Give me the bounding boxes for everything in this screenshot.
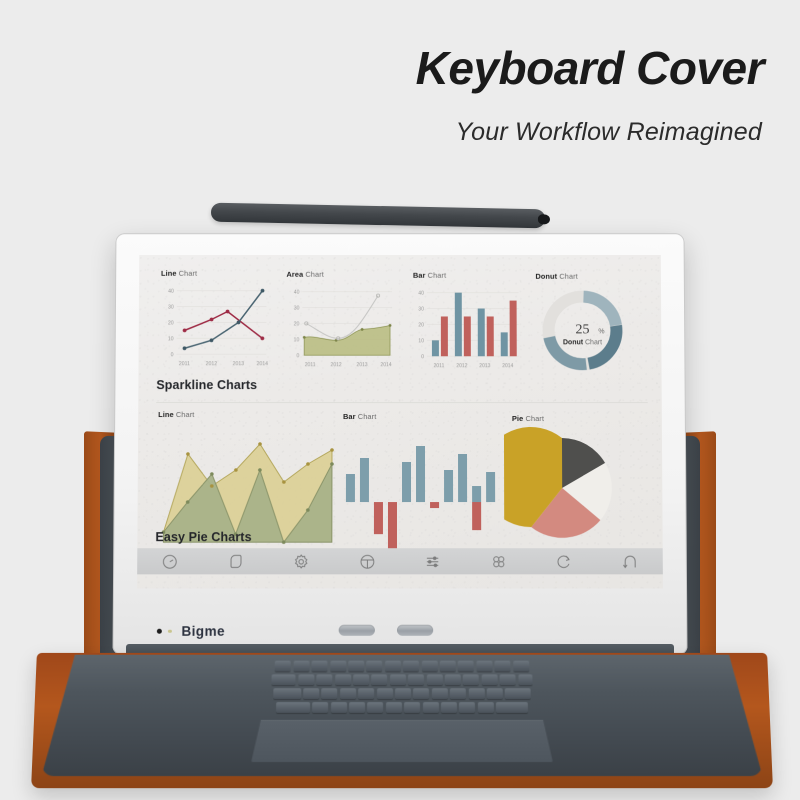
svg-text:2013: 2013	[357, 362, 368, 368]
keyboard-key[interactable]	[495, 661, 511, 672]
keyboard-key[interactable]	[312, 661, 328, 672]
svg-text:40: 40	[168, 289, 174, 295]
keyboard-key[interactable]	[441, 702, 457, 713]
keyboard-key[interactable]	[386, 702, 402, 713]
keyboard-key[interactable]	[335, 674, 351, 685]
key-row-4[interactable]	[44, 702, 760, 713]
keyboard-key[interactable]	[423, 702, 439, 713]
keyboard-key[interactable]	[445, 674, 461, 685]
keyboard-key[interactable]	[518, 674, 532, 685]
svg-text:2012: 2012	[331, 362, 342, 368]
keyboard-key[interactable]	[353, 674, 369, 685]
key-row-3[interactable]	[45, 688, 760, 699]
keyboard-key[interactable]	[496, 702, 528, 713]
keyboard-deck[interactable]	[41, 655, 762, 776]
svg-text:20: 20	[418, 322, 424, 328]
keyboard-key[interactable]	[421, 661, 437, 672]
svg-text:10: 10	[168, 336, 174, 342]
keyboard-key[interactable]	[450, 688, 466, 699]
chart-title-sparkline-pie: Pie Chart	[512, 414, 544, 423]
gear-icon[interactable]	[293, 553, 310, 570]
chart-line-1: 4030 2010 0 20112012 20132014	[154, 283, 272, 372]
keyboard-key[interactable]	[500, 674, 516, 685]
grid-dots-icon[interactable]	[490, 553, 507, 570]
svg-text:20: 20	[168, 320, 174, 326]
keyboard-key[interactable]	[273, 688, 301, 699]
keyboard-key[interactable]	[367, 661, 383, 672]
svg-text:2011: 2011	[434, 363, 445, 369]
donut-value: 25	[575, 322, 589, 337]
page-title: Keyboard Cover	[0, 44, 764, 92]
chart-title-area: Area Chart	[286, 270, 323, 279]
chart-area-1: 4030 2010 0 20112012 20132014	[280, 284, 398, 373]
key-rows[interactable]	[44, 661, 760, 712]
bezel-button-1[interactable]	[339, 625, 375, 636]
keyboard-key[interactable]	[272, 674, 296, 685]
keyboard-key[interactable]	[408, 674, 424, 685]
keyboard-key[interactable]	[390, 674, 406, 685]
svg-text:0: 0	[296, 353, 299, 359]
key-row-2[interactable]	[45, 674, 759, 685]
tablet-device: Line Chart 4030 2010 0 20112012 2013	[112, 233, 687, 655]
keyboard-key[interactable]	[377, 688, 393, 699]
chart-bar-1: 4030 2010 0 20112012 20132014	[407, 285, 525, 374]
keyboard-key[interactable]	[303, 688, 319, 699]
section-title-sparkline: Sparkline Charts	[156, 378, 257, 392]
chart-title-sparkline-line: Line Chart	[158, 410, 194, 419]
shape-square-icon[interactable]	[227, 553, 244, 570]
svg-text:0: 0	[171, 352, 174, 358]
eink-screen[interactable]: Line Chart 4030 2010 0 20112012 2013	[137, 255, 663, 588]
chart-sparkline-bar	[338, 426, 498, 550]
screen-toolbar[interactable]	[137, 548, 663, 574]
chart-title-donut: Donut Chart	[535, 272, 577, 281]
donut-label-light: Chart	[585, 339, 602, 346]
brand-name: Bigme	[181, 624, 225, 639]
key-row-1[interactable]	[46, 661, 758, 672]
keyboard-key[interactable]	[395, 688, 411, 699]
svg-text:2014: 2014	[380, 362, 391, 368]
keyboard-key[interactable]	[330, 661, 346, 672]
refresh-icon[interactable]	[556, 553, 573, 570]
keyboard-key[interactable]	[331, 702, 347, 713]
clock-icon[interactable]	[161, 553, 178, 570]
donut-label-strong: Donut	[563, 339, 584, 346]
keyboard-key[interactable]	[476, 661, 492, 672]
keyboard-key[interactable]	[275, 661, 291, 672]
svg-text:Donut Chart: Donut Chart	[563, 339, 602, 346]
keyboard-key[interactable]	[312, 702, 328, 713]
keyboard-key[interactable]	[348, 661, 364, 672]
keyboard-key[interactable]	[468, 688, 484, 699]
svg-text:30: 30	[418, 307, 424, 313]
stylus-pen[interactable]	[211, 203, 545, 229]
page-subtitle: Your Workflow Reimagined	[0, 118, 762, 147]
keyboard-key[interactable]	[349, 702, 365, 713]
keyboard-key[interactable]	[513, 661, 529, 672]
svg-text:2013: 2013	[479, 363, 490, 369]
chart-title-bar: Bar Chart	[413, 271, 446, 280]
svg-text:2013: 2013	[233, 361, 245, 367]
section-divider-1	[156, 402, 648, 403]
svg-text:0: 0	[421, 354, 424, 360]
svg-text:30: 30	[168, 305, 174, 311]
keyboard-key[interactable]	[403, 661, 419, 672]
keyboard-key[interactable]	[478, 702, 494, 713]
bezel-button-2[interactable]	[397, 625, 433, 636]
indicator-dot-black	[157, 629, 162, 634]
svg-text:10: 10	[418, 338, 424, 344]
chart-title-line: Line Chart	[161, 269, 197, 278]
svg-text:2011: 2011	[305, 362, 316, 368]
keyboard-key[interactable]	[413, 688, 429, 699]
svg-text:10: 10	[294, 337, 300, 343]
undo-arrow-icon[interactable]	[621, 553, 638, 570]
keyboard-key[interactable]	[367, 702, 383, 713]
promo-scene: Keyboard Cover Your Workflow Reimagined …	[0, 0, 800, 800]
keyboard-key[interactable]	[487, 688, 503, 699]
sliders-icon[interactable]	[424, 553, 441, 570]
svg-text:30: 30	[294, 306, 300, 312]
keyboard-key[interactable]	[505, 688, 531, 699]
keyboard-key[interactable]	[440, 661, 456, 672]
svg-text:2012: 2012	[206, 361, 218, 367]
keyboard-key[interactable]	[459, 702, 475, 713]
keyboard-key[interactable]	[458, 661, 474, 672]
keyboard-key[interactable]	[322, 688, 338, 699]
keyboard-key[interactable]	[404, 702, 420, 713]
trackpad[interactable]	[251, 720, 553, 762]
svg-text:2014: 2014	[256, 361, 268, 367]
keyboard-key[interactable]	[317, 674, 333, 685]
keyboard-key[interactable]	[463, 674, 479, 685]
svg-text:40: 40	[294, 290, 300, 296]
svg-text:2011: 2011	[179, 361, 190, 367]
svg-text:2014: 2014	[502, 363, 513, 369]
donut-unit: %	[598, 328, 604, 335]
keyboard-key[interactable]	[426, 674, 442, 685]
keyboard-key[interactable]	[340, 688, 356, 699]
keyboard-key[interactable]	[293, 661, 309, 672]
keyboard-key[interactable]	[372, 674, 388, 685]
svg-text:40: 40	[418, 291, 424, 297]
chart-pie-1	[504, 426, 625, 546]
svg-text:20: 20	[294, 321, 300, 327]
chart-donut-1: 25 % Donut Chart	[532, 281, 632, 380]
indicator-dot-olive	[168, 630, 172, 634]
keyboard-key[interactable]	[432, 688, 448, 699]
section-title-easy-pie: Easy Pie Charts	[155, 530, 251, 544]
keyboard-key[interactable]	[385, 661, 401, 672]
keyboard-key[interactable]	[298, 674, 314, 685]
keyboard-key[interactable]	[358, 688, 374, 699]
keyboard-key[interactable]	[481, 674, 497, 685]
brand-logo: Bigme	[157, 624, 225, 639]
svg-text:2012: 2012	[456, 363, 467, 369]
steering-wheel-icon[interactable]	[359, 553, 376, 570]
keyboard-key[interactable]	[276, 702, 310, 713]
chart-title-sparkline-bar: Bar Chart	[343, 412, 376, 421]
